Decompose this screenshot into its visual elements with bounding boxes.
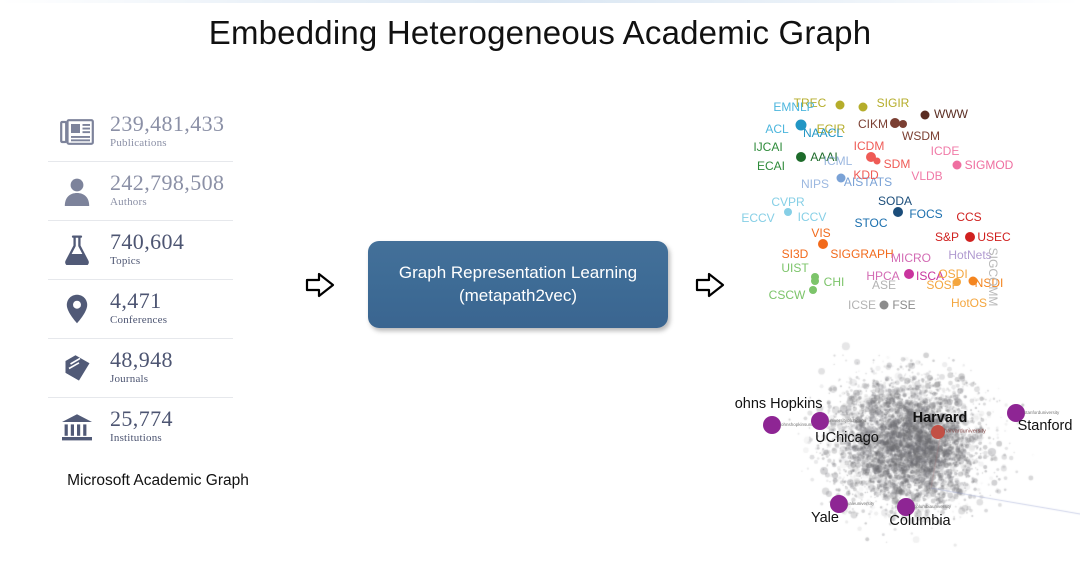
institution-micro-label: universityofchicago xyxy=(828,419,866,424)
conference-label-ccs: CCS xyxy=(956,211,981,223)
stat-row-publications: 239,481,433Publications xyxy=(48,103,233,162)
stat-row-topics: 740,604Topics xyxy=(48,221,233,280)
conference-dot-sigmod xyxy=(953,161,962,170)
conference-label-sdm: SDM xyxy=(884,158,911,170)
conference-label-eccv: ECCV xyxy=(741,212,774,224)
conference-label-cscw: CSCW xyxy=(769,289,806,301)
institution-node-uchicago xyxy=(811,412,829,430)
right-arrow-icon-right xyxy=(695,272,725,298)
conference-dot-sigir xyxy=(859,103,868,112)
conference-label-fse: FSE xyxy=(892,299,915,311)
conference-label-micro: MICRO xyxy=(891,252,931,264)
flask-icon xyxy=(48,235,106,265)
conference-label-icse: ICSE xyxy=(848,299,876,311)
conference-label-www: WWW xyxy=(934,108,968,120)
institution-label-stanford: Stanford xyxy=(1018,419,1073,434)
stat-value: 740,604 xyxy=(110,230,184,253)
conference-dot-fse xyxy=(880,301,889,310)
conference-label-cikm: CIKM xyxy=(858,118,888,130)
institution-label-harvard: Harvard xyxy=(913,411,968,426)
institution-node-harvard xyxy=(931,425,945,439)
conference-label-usec: USEC xyxy=(977,231,1010,243)
conference-dot-chi xyxy=(811,277,819,285)
conference-label-sigir: SIGIR xyxy=(877,97,910,109)
conference-label-ecai: ECAI xyxy=(757,160,785,172)
pin-icon xyxy=(48,294,106,324)
conference-label-iccv: ICCV xyxy=(798,211,827,223)
conference-label-soda: SODA xyxy=(878,195,912,207)
institution-label-johnshopkins: Johns Hopkins xyxy=(735,397,823,412)
conference-label-sosp: SOSP xyxy=(926,279,959,291)
conference-label-icml: ICML xyxy=(824,155,853,167)
stat-value: 25,774 xyxy=(110,407,173,430)
mag-caption: Microsoft Academic Graph xyxy=(38,472,278,490)
conference-label-nips: NIPS xyxy=(801,178,829,190)
conference-label-icdm: ICDM xyxy=(854,140,885,152)
person-icon xyxy=(48,176,106,206)
stat-row-conferences: 4,471Conferences xyxy=(48,280,233,339)
conference-label-stoc: STOC xyxy=(854,217,887,229)
conference-dot-aaai xyxy=(796,152,806,162)
conference-label-cvpr: CVPR xyxy=(771,196,804,208)
institution-micro-label: harvarduniversity xyxy=(944,429,986,435)
conference-dot-isca xyxy=(904,269,914,279)
stat-value: 239,481,433 xyxy=(110,112,224,135)
right-arrow-icon-left xyxy=(305,272,335,298)
conference-dot-soda xyxy=(893,207,903,217)
stat-label: Authors xyxy=(110,194,224,211)
conference-label-vis: VIS xyxy=(811,227,830,239)
conference-label-sigcomm: SIGCOMM xyxy=(987,248,999,307)
conference-label-uist: UIST xyxy=(781,262,808,274)
stat-value: 4,471 xyxy=(110,289,167,312)
conference-embedding-scatter: TRECSIGIRECIREMNLPACLNAACLCIKMWSDMWWWIJC… xyxy=(735,85,1025,325)
conference-label-si3d: SI3D xyxy=(782,248,809,260)
stat-text: 25,774Institutions xyxy=(106,407,173,447)
stat-text: 239,481,433Publications xyxy=(106,112,224,152)
conference-dot-cscw xyxy=(809,286,817,294)
institution-micro-label: yaleuniversity xyxy=(847,502,874,507)
top-accent-line xyxy=(0,0,1080,3)
conference-label-ijcai: IJCAI xyxy=(753,141,782,153)
conference-label-focs: FOCS xyxy=(909,208,942,220)
conference-label-sp: S&P xyxy=(935,231,959,243)
institution-micro-label: columbiauniversity xyxy=(914,505,951,510)
stat-row-institutions: 25,774Institutions xyxy=(48,398,233,456)
model-box-line1: Graph Representation Learning xyxy=(399,262,637,285)
book-icon xyxy=(48,354,106,382)
stat-label: Publications xyxy=(110,135,224,152)
stat-text: 4,471Conferences xyxy=(106,289,167,329)
stat-text: 48,948Journals xyxy=(106,348,173,388)
stat-label: Journals xyxy=(110,371,173,388)
institution-embedding-map: johnshopkinsuniversityJohns Hopkinsunive… xyxy=(735,338,1080,562)
conference-dot-usec xyxy=(965,232,975,242)
institution-micro-label: stanforduniversity xyxy=(1024,411,1059,416)
stat-text: 740,604Topics xyxy=(106,230,184,270)
conference-label-vldb: VLDB xyxy=(911,170,942,182)
conference-label-hotos: HotOS xyxy=(951,297,987,309)
conference-label-acl: ACL xyxy=(765,123,788,135)
conference-label-emnlp: EMNLP xyxy=(773,101,814,113)
conference-dot-sdm xyxy=(874,158,881,165)
conference-label-wsdm: WSDM xyxy=(902,130,940,142)
institution-label-yale: Yale xyxy=(811,511,839,526)
conference-dot-trec xyxy=(836,101,845,110)
stat-row-authors: 242,798,508Authors xyxy=(48,162,233,221)
page-title: Embedding Heterogeneous Academic Graph xyxy=(0,14,1080,52)
stat-value: 48,948 xyxy=(110,348,173,371)
model-box: Graph Representation Learning (metapath2… xyxy=(368,241,668,328)
conference-label-siggraph: SIGGRAPH xyxy=(830,248,893,260)
institution-label-columbia: Columbia xyxy=(889,514,950,529)
institution-node-johnshopkins xyxy=(763,416,781,434)
conference-label-sigmod: SIGMOD xyxy=(965,159,1014,171)
stat-value: 242,798,508 xyxy=(110,171,224,194)
conference-label-icde: ICDE xyxy=(931,145,960,157)
stat-label: Topics xyxy=(110,253,184,270)
conference-dot-cvpr xyxy=(784,208,792,216)
newspaper-icon xyxy=(48,119,106,145)
stat-label: Conferences xyxy=(110,312,167,329)
conference-dot-www xyxy=(921,111,930,120)
stat-row-journals: 48,948Journals xyxy=(48,339,233,398)
conference-label-ase: ASE xyxy=(872,279,896,291)
conference-label-naacl: NAACL xyxy=(803,127,843,139)
conference-dot-vis xyxy=(818,239,828,249)
conference-dot-wsdm xyxy=(899,120,907,128)
academic-graph-stats-card: 239,481,433Publications242,798,508Author… xyxy=(48,103,233,456)
conference-label-chi: CHI xyxy=(824,276,845,288)
bank-icon xyxy=(48,413,106,441)
stat-label: Institutions xyxy=(110,430,173,447)
conference-label-kdd: KDD xyxy=(853,169,878,181)
stat-text: 242,798,508Authors xyxy=(106,171,224,211)
model-box-line2: (metapath2vec) xyxy=(459,285,577,308)
institution-label-uchicago: UChicago xyxy=(815,431,879,446)
